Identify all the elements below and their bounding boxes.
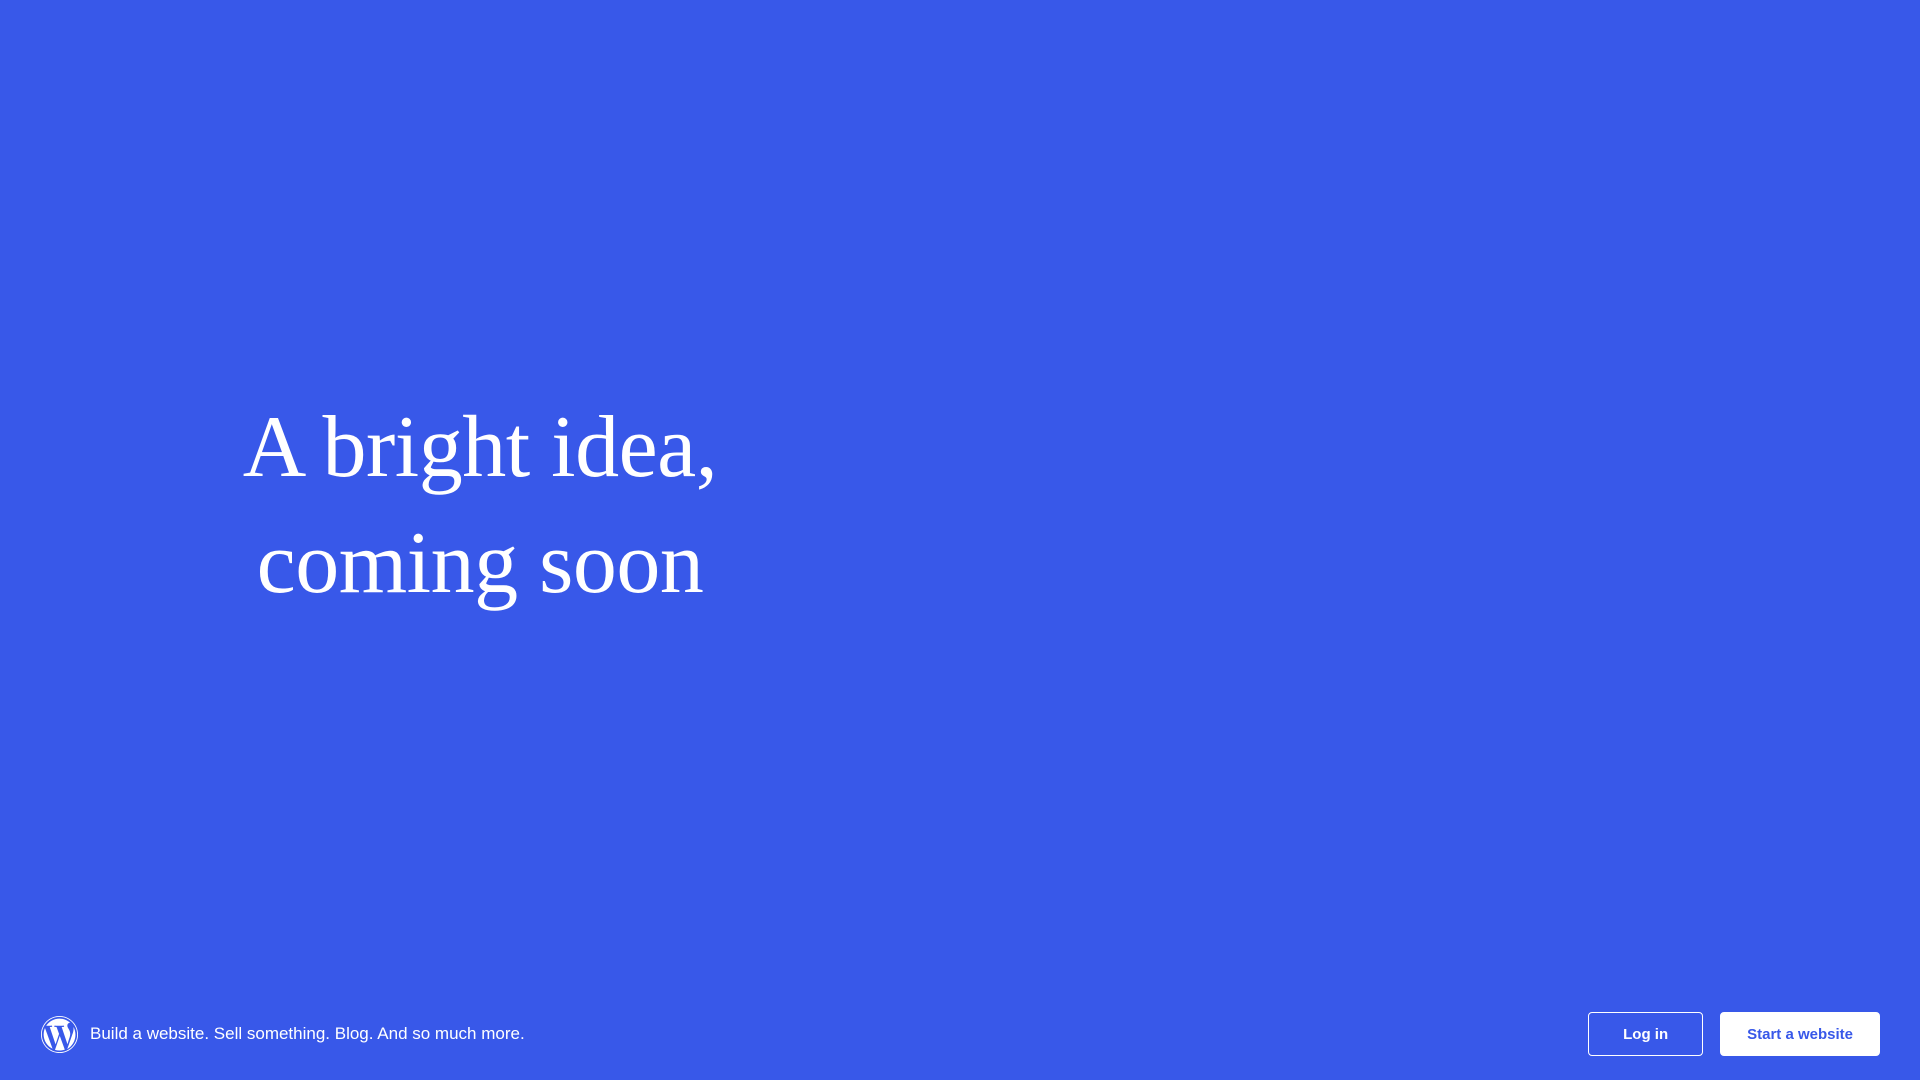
wordpress-logo-icon [41,1016,78,1053]
footer-actions: Log in Start a website [1588,1012,1880,1056]
footer-tagline: Build a website. Sell something. Blog. A… [90,1024,525,1044]
login-button[interactable]: Log in [1588,1012,1703,1056]
coming-soon-page: A bright idea, coming soon Build a websi… [0,0,1920,1080]
footer-bar: Build a website. Sell something. Blog. A… [0,988,1920,1080]
start-a-website-button[interactable]: Start a website [1720,1012,1880,1056]
page-title: A bright idea, coming soon [160,390,800,622]
hero-section: A bright idea, coming soon [0,0,1920,1012]
footer-branding: Build a website. Sell something. Blog. A… [41,1016,1588,1053]
hero-content: A bright idea, coming soon [160,390,800,622]
